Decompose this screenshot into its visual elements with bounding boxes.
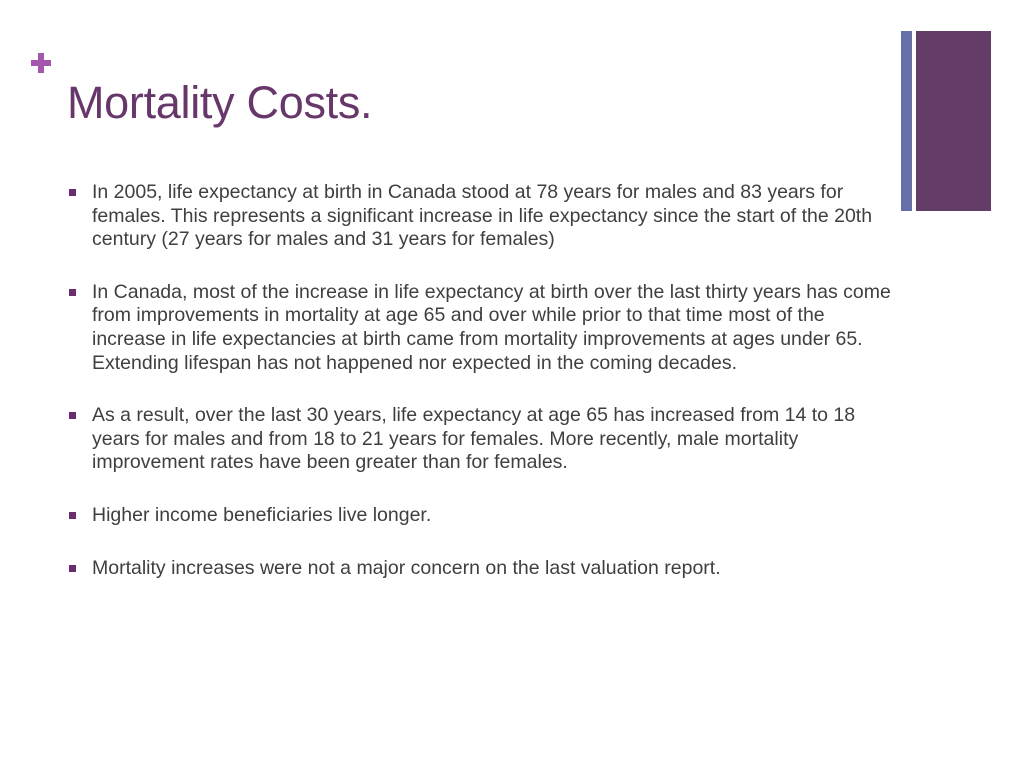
bullet-square-icon [69,189,76,196]
list-item: Mortality increases were not a major con… [66,557,896,581]
list-item-text: In Canada, most of the increase in life … [92,281,896,375]
bullet-square-icon [69,565,76,572]
list-item: In 2005, life expectancy at birth in Can… [66,181,896,252]
presentation-slide: Mortality Costs. In 2005, life expectanc… [0,0,1024,768]
decorative-thin-bar [901,31,912,211]
list-item-text: Higher income beneficiaries live longer. [92,504,896,528]
bullet-square-icon [69,289,76,296]
bullet-square-icon [69,412,76,419]
list-item: As a result, over the last 30 years, lif… [66,404,896,475]
list-item-text: Mortality increases were not a major con… [92,557,896,581]
list-item: In Canada, most of the increase in life … [66,281,896,375]
list-item: Higher income beneficiaries live longer. [66,504,896,528]
page-title: Mortality Costs. [67,74,372,132]
decorative-color-block [916,31,991,211]
list-item-text: In 2005, life expectancy at birth in Can… [92,181,896,252]
list-item-text: As a result, over the last 30 years, lif… [92,404,896,475]
bullet-square-icon [69,512,76,519]
slide-title-row: Mortality Costs. [0,44,870,124]
plus-icon [31,53,51,73]
slide-bullet-list: In 2005, life expectancy at birth in Can… [66,181,896,580]
